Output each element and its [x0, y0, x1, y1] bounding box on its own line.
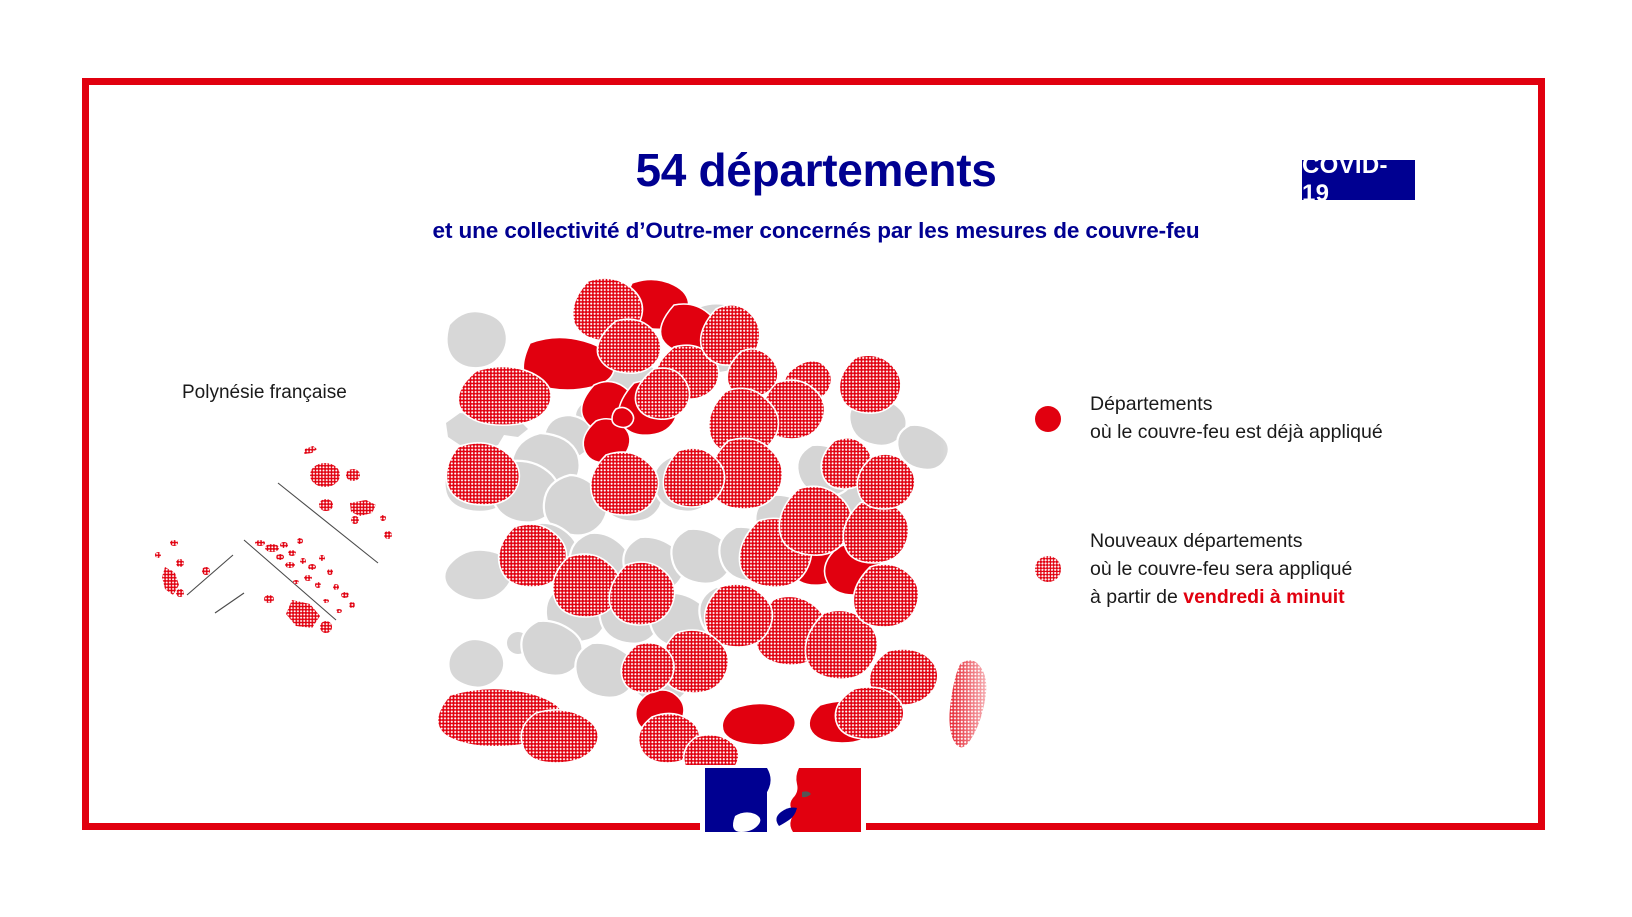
polynesia-separator-lines	[187, 483, 378, 620]
page-subtitle: et une collectivité d’Outre-mer concerné…	[0, 218, 1632, 244]
polynesia-islands	[155, 446, 392, 633]
marianne-logo	[705, 768, 861, 832]
legend-item-new-text: Nouveaux départements où le couvre-feu s…	[1090, 527, 1455, 611]
hatched-red-dot-icon	[1035, 556, 1061, 582]
polynesia-label: Polynésie française	[182, 382, 347, 404]
legend-new-line2: où le couvre-feu sera appliqué	[1090, 555, 1455, 583]
logo-red-band	[799, 768, 861, 832]
legend-new-line1: Nouveaux départements	[1090, 527, 1455, 555]
polynesia-map	[140, 415, 410, 640]
covid-19-badge: COVID-19	[1302, 160, 1415, 200]
infographic-canvas: 54 départements et une collectivité d’Ou…	[0, 0, 1632, 917]
legend-already-line2: où le couvre-feu est déjà appliqué	[1090, 418, 1455, 446]
legend-new-line3-prefix: à partir de	[1090, 586, 1183, 608]
solid-red-dot-icon	[1035, 406, 1061, 432]
legend-new-highlight: vendredi à minuit	[1183, 586, 1344, 608]
legend-item-already: Départements où le couvre-feu est déjà a…	[1035, 390, 1455, 446]
legend-new-line3: à partir de vendredi à minuit	[1090, 583, 1455, 611]
legend-already-line1: Départements	[1090, 390, 1455, 418]
france-map	[420, 265, 1040, 765]
legend-item-new: Nouveaux départements où le couvre-feu s…	[1035, 527, 1455, 611]
legend-item-already-text: Départements où le couvre-feu est déjà a…	[1090, 390, 1455, 446]
